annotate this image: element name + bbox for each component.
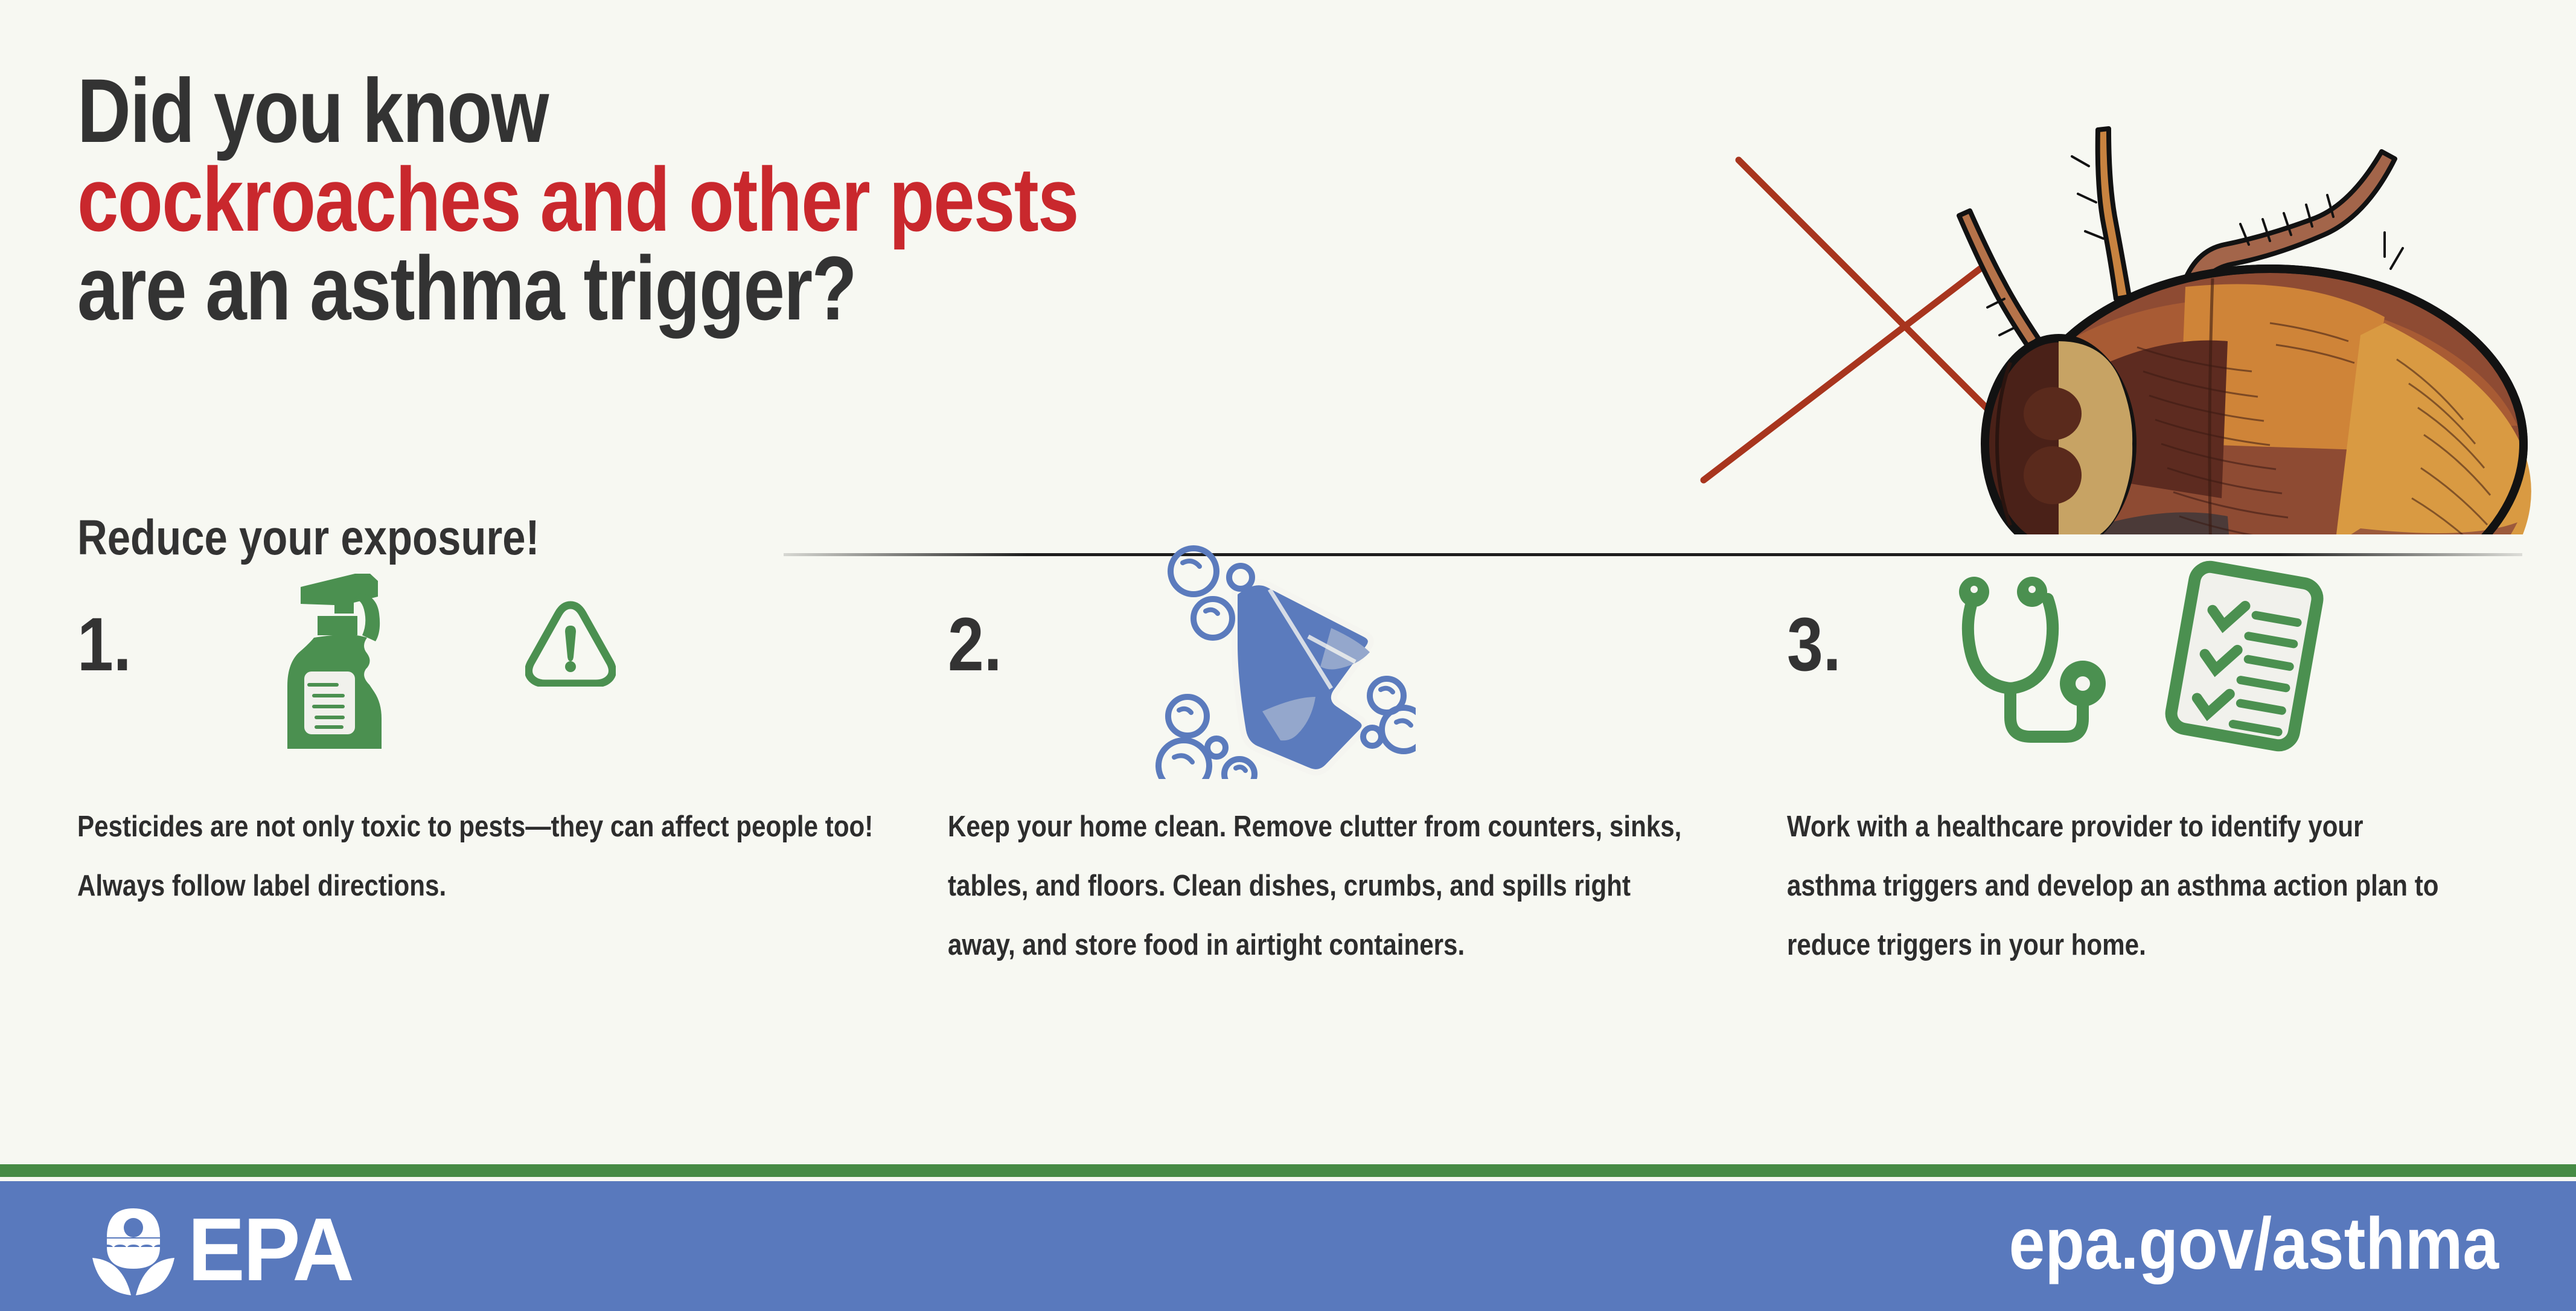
footer-accent-bar bbox=[0, 1164, 2576, 1177]
tip-body-1: Pesticides are not only toxic to pests—t… bbox=[77, 797, 878, 915]
headline-line-3: are an asthma trigger? bbox=[77, 244, 1439, 333]
cockroach-illustration bbox=[1666, 0, 2576, 534]
tip-3-icon-group bbox=[1950, 568, 2143, 752]
page-title: Did you know cockroaches and other pests… bbox=[77, 66, 1737, 333]
warning-triangle-icon bbox=[525, 599, 616, 687]
site-url[interactable]: epa.gov/asthma bbox=[2009, 1207, 2499, 1280]
tip-body-2: Keep your home clean. Remove clutter fro… bbox=[948, 797, 1701, 975]
headline-line-1: Did you know bbox=[77, 66, 1439, 155]
clipboard-checklist-icon bbox=[2155, 559, 2336, 758]
tip-number-3: 3. bbox=[1787, 607, 1841, 682]
epa-wordmark: EPA bbox=[188, 1205, 353, 1295]
epa-logo[interactable]: EPA bbox=[88, 1205, 359, 1295]
cleaning-cloth-icon bbox=[1150, 537, 1416, 779]
tip-1-warning bbox=[525, 599, 616, 690]
tip-2-icon-group bbox=[1150, 537, 1416, 782]
tip-3-clipboard bbox=[2155, 559, 2336, 761]
tip-1-icon-group bbox=[276, 568, 476, 752]
headline-line-2: cockroaches and other pests bbox=[77, 155, 1439, 244]
tip-body-3: Work with a healthcare provider to ident… bbox=[1787, 797, 2455, 975]
section-subtitle: Reduce your exposure! bbox=[77, 513, 540, 563]
tip-number-1: 1. bbox=[77, 607, 132, 682]
stethoscope-icon bbox=[1950, 568, 2143, 749]
epa-seal-icon bbox=[88, 1205, 179, 1295]
spray-bottle-icon bbox=[276, 568, 476, 749]
section-divider bbox=[784, 553, 2522, 556]
infographic-canvas: Did you know cockroaches and other pests… bbox=[0, 0, 2576, 1311]
tip-number-2: 2. bbox=[948, 607, 1002, 682]
